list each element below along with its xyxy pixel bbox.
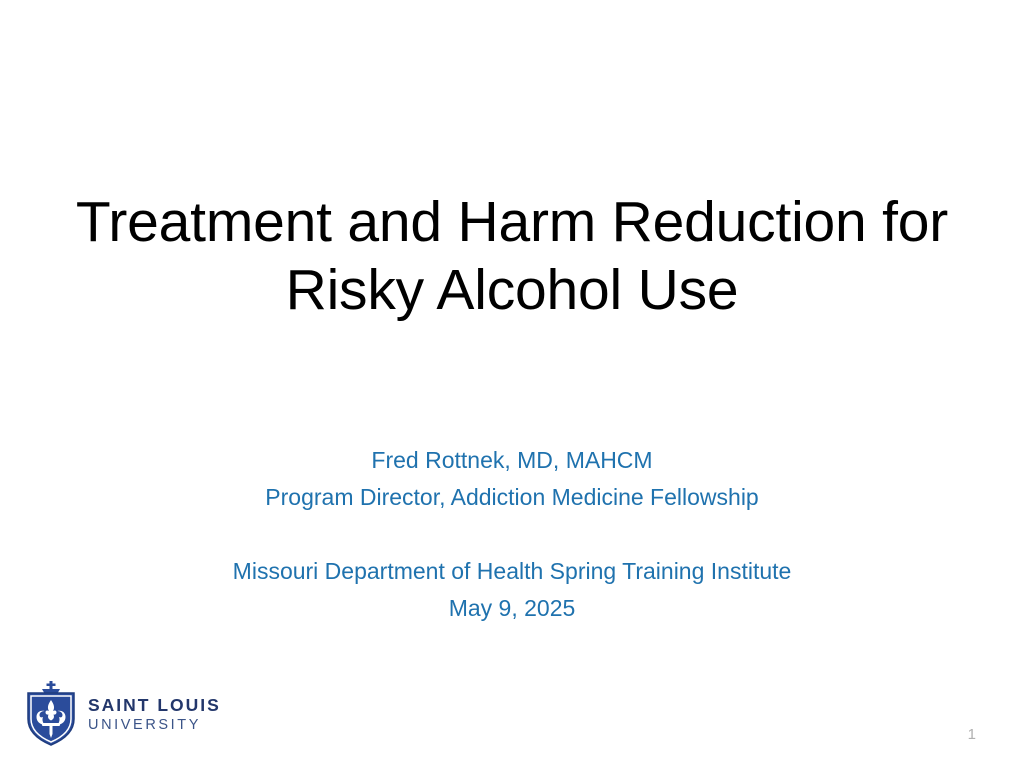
- title-line-1: Treatment and Harm Reduction for: [52, 188, 972, 256]
- presentation-slide: Treatment and Harm Reduction for Risky A…: [0, 0, 1024, 768]
- logo-line-university: UNIVERSITY: [88, 716, 221, 734]
- logo-wordmark: SAINT LOUIS UNIVERSITY: [88, 693, 221, 734]
- title-line-2: Risky Alcohol Use: [52, 256, 972, 324]
- saint-louis-university-logo: SAINT LOUIS UNIVERSITY: [24, 680, 221, 746]
- subtitle-date: May 9, 2025: [112, 590, 912, 627]
- subtitle-role: Program Director, Addiction Medicine Fel…: [112, 479, 912, 516]
- slu-shield-icon: [24, 680, 78, 746]
- logo-line-saint-louis: SAINT LOUIS: [88, 695, 221, 716]
- subtitle-spacer: [112, 516, 912, 553]
- subtitle-presenter: Fred Rottnek, MD, MAHCM: [112, 442, 912, 479]
- subtitle-event: Missouri Department of Health Spring Tra…: [112, 553, 912, 590]
- slide-subtitle: Fred Rottnek, MD, MAHCM Program Director…: [112, 442, 912, 627]
- slide-title: Treatment and Harm Reduction for Risky A…: [52, 188, 972, 324]
- page-number: 1: [968, 726, 976, 744]
